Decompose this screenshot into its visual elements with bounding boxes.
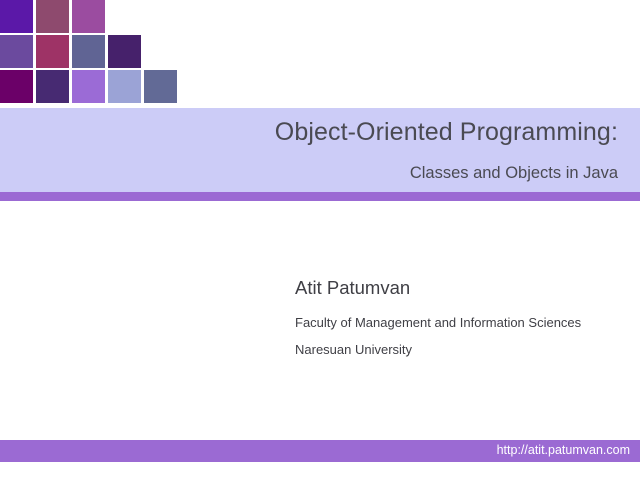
swatch-cell bbox=[36, 35, 69, 68]
swatch-cell bbox=[108, 35, 141, 68]
swatch-cell bbox=[0, 0, 33, 33]
swatch-cell bbox=[0, 70, 33, 103]
footer-bar: http://atit.patumvan.com bbox=[0, 440, 640, 462]
swatch-cell bbox=[0, 35, 33, 68]
author-name: Atit Patumvan bbox=[295, 277, 625, 299]
swatch-cell bbox=[36, 70, 69, 103]
author-block: Atit Patumvan Faculty of Management and … bbox=[295, 277, 625, 369]
swatch-cell bbox=[108, 70, 141, 103]
title-banner: Object-Oriented Programming: Classes and… bbox=[0, 108, 640, 192]
footer-url: http://atit.patumvan.com bbox=[497, 443, 630, 457]
swatch-row bbox=[0, 70, 190, 103]
swatch-row bbox=[0, 0, 190, 33]
swatch-cell bbox=[72, 35, 105, 68]
swatch-row bbox=[0, 35, 190, 68]
swatch-cell bbox=[72, 0, 105, 33]
slide-subtitle: Classes and Objects in Java bbox=[410, 164, 618, 183]
author-affiliation: Faculty of Management and Information Sc… bbox=[295, 315, 625, 330]
banner-accent-rule bbox=[0, 192, 640, 201]
slide-title: Object-Oriented Programming: bbox=[275, 118, 618, 147]
swatch-cell bbox=[144, 70, 177, 103]
author-institution: Naresuan University bbox=[295, 342, 625, 357]
swatch-cell bbox=[72, 70, 105, 103]
swatch-cell bbox=[36, 0, 69, 33]
decorative-swatch-grid bbox=[0, 0, 190, 104]
